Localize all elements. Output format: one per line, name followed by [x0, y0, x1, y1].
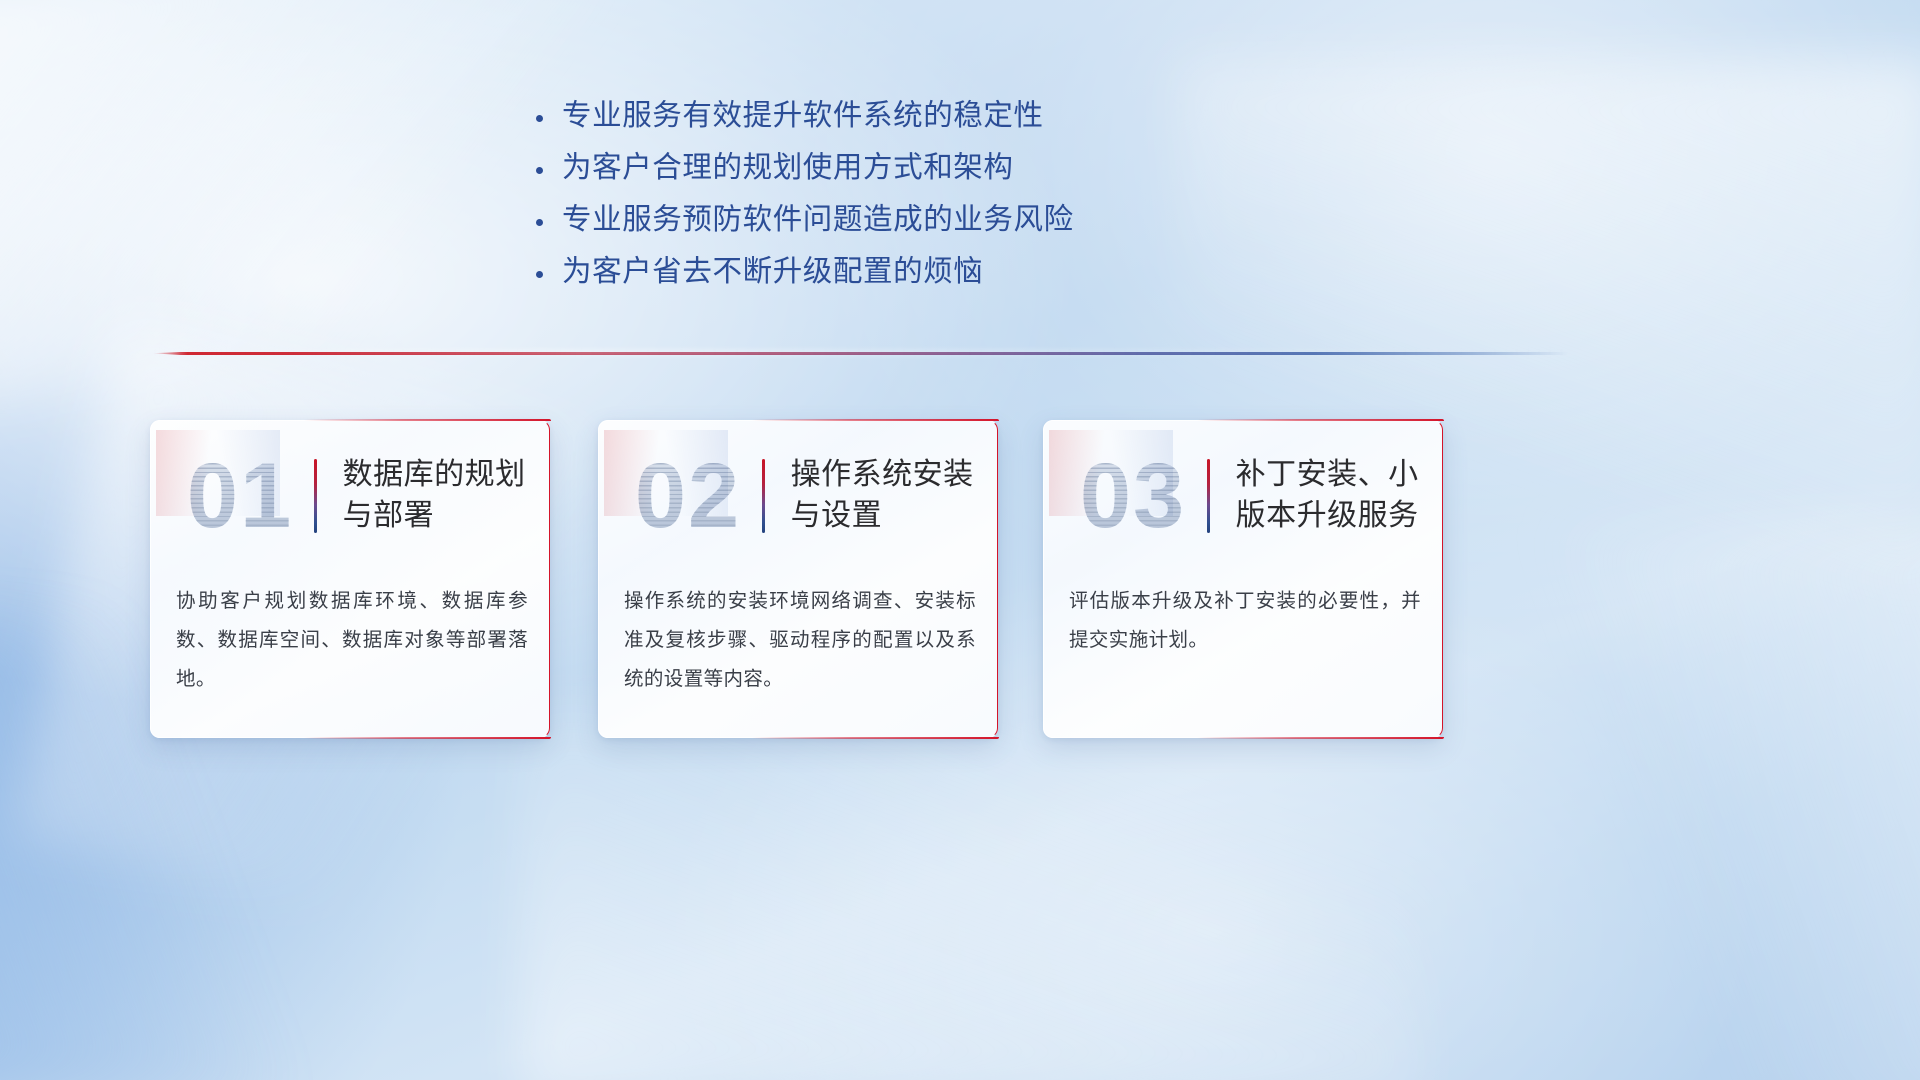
bullet-dot-icon [536, 271, 562, 278]
list-item: 为客户合理的规划使用方式和架构 [536, 144, 1296, 196]
service-card[interactable]: 02 操作系统安装与设置 操作系统的安装环境网络调查、安装标准及复核步骤、驱动程… [598, 420, 998, 738]
card-number-watermark: 02 [620, 444, 756, 548]
bullet-text: 为客户合理的规划使用方式和架构 [562, 144, 1014, 186]
bullet-dot-icon [536, 219, 562, 226]
card-number-watermark: 01 [172, 444, 308, 548]
slide-canvas: 专业服务有效提升软件系统的稳定性 为客户合理的规划使用方式和架构 专业服务预防软… [0, 0, 1920, 1080]
card-divider-bar [762, 459, 765, 533]
card-title: 补丁安装、小版本升级服务 [1236, 455, 1426, 537]
service-card[interactable]: 01 数据库的规划与部署 协助客户规划数据库环境、数据库参数、数据库空间、数据库… [150, 420, 550, 738]
card-description: 协助客户规划数据库环境、数据库参数、数据库空间、数据库对象等部署落地。 [176, 582, 528, 699]
card-divider-bar [1207, 459, 1210, 533]
card-title: 数据库的规划与部署 [343, 455, 533, 537]
bullet-dot-icon [536, 167, 562, 174]
divider-sheen [152, 349, 1568, 356]
bullet-text: 为客户省去不断升级配置的烦恼 [562, 248, 983, 290]
card-divider-bar [314, 459, 317, 533]
bullet-text: 专业服务有效提升软件系统的稳定性 [562, 92, 1044, 134]
bullet-dot-icon [536, 115, 562, 122]
card-number-watermark: 03 [1065, 444, 1201, 548]
service-card[interactable]: 03 补丁安装、小版本升级服务 评估版本升级及补丁安装的必要性，并提交实施计划。 [1043, 420, 1443, 738]
benefits-bullet-list: 专业服务有效提升软件系统的稳定性 为客户合理的规划使用方式和架构 专业服务预防软… [536, 92, 1296, 300]
light-streak-decoration [520, 700, 1420, 1080]
service-card-group: 01 数据库的规划与部署 协助客户规划数据库环境、数据库参数、数据库空间、数据库… [150, 420, 1570, 745]
card-header: 03 补丁安装、小版本升级服务 [1043, 420, 1443, 572]
card-header: 01 数据库的规划与部署 [150, 420, 550, 572]
card-header: 02 操作系统安装与设置 [598, 420, 998, 572]
list-item: 专业服务有效提升软件系统的稳定性 [536, 92, 1296, 144]
light-streak-decoration [1540, 520, 1920, 1080]
card-description: 操作系统的安装环境网络调查、安装标准及复核步骤、驱动程序的配置以及系统的设置等内… [624, 582, 976, 699]
list-item: 专业服务预防软件问题造成的业务风险 [536, 196, 1296, 248]
card-description: 评估版本升级及补丁安装的必要性，并提交实施计划。 [1069, 582, 1421, 660]
list-item: 为客户省去不断升级配置的烦恼 [536, 248, 1296, 300]
section-divider [152, 348, 1568, 362]
bullet-text: 专业服务预防软件问题造成的业务风险 [562, 196, 1074, 238]
card-title: 操作系统安装与设置 [791, 455, 981, 537]
